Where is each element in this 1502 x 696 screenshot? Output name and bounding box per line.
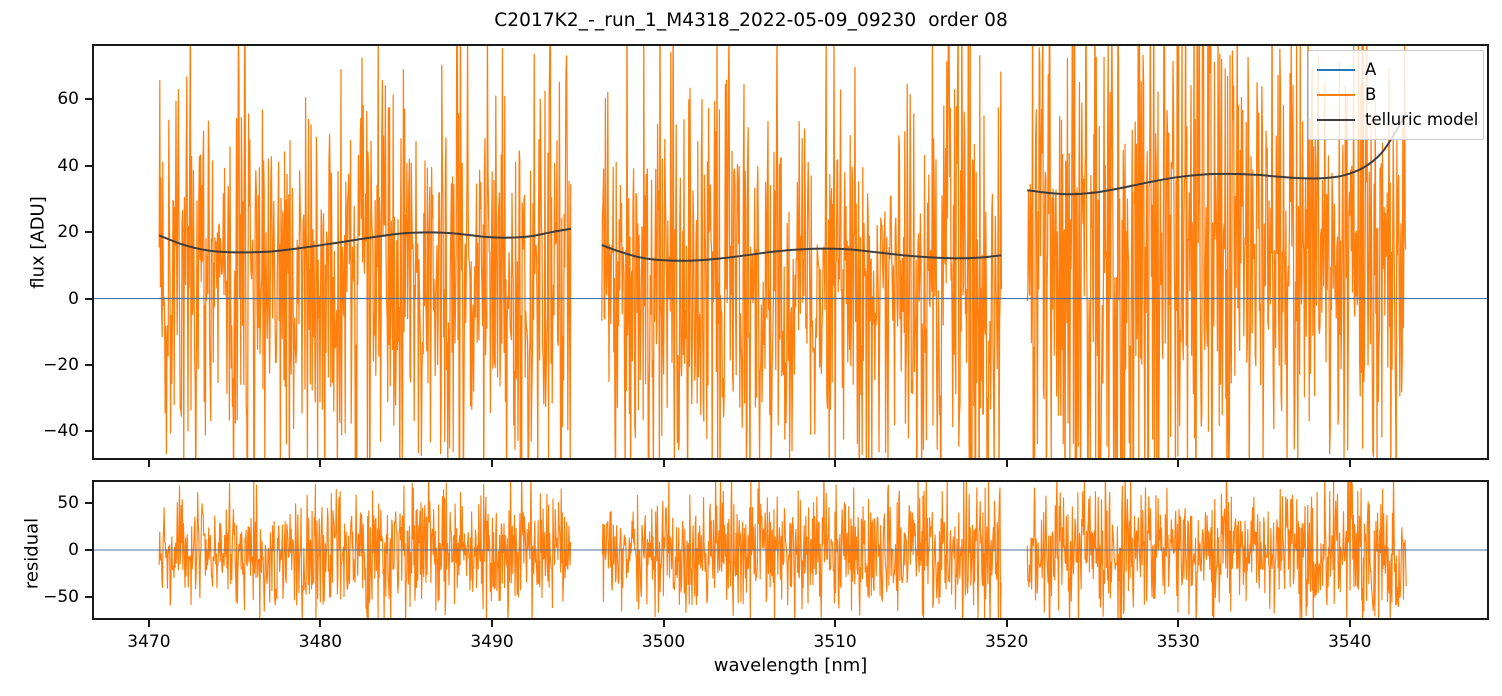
wavelength-xtick-label: 3480 <box>299 632 342 652</box>
residual-ytick-mark <box>85 596 92 598</box>
residual-xtick-mark <box>1006 620 1008 627</box>
flux-axis-label: flux [ADU] <box>28 163 49 323</box>
flux-xtick-mark <box>148 460 150 467</box>
flux-panel-axes <box>92 44 1489 460</box>
legend-entry-telluric[interactable]: telluric model <box>1317 107 1475 132</box>
legend-label-b: B <box>1365 85 1376 104</box>
residual-ytick-label: 0 <box>7 540 79 560</box>
flux-xtick-mark <box>834 460 836 467</box>
residual-series-svg <box>94 482 1487 618</box>
residual-ytick-label: −50 <box>7 587 79 607</box>
flux-ytick-label: −40 <box>7 421 79 441</box>
flux-xtick-mark <box>319 460 321 467</box>
legend-swatch-telluric <box>1317 119 1355 121</box>
residual-xtick-mark <box>663 620 665 627</box>
residual-xtick-mark <box>148 620 150 627</box>
wavelength-xtick-label: 3500 <box>642 632 685 652</box>
legend-swatch-b <box>1317 94 1355 96</box>
flux-ytick-mark <box>85 231 92 233</box>
flux-ytick-mark <box>85 430 92 432</box>
wavelength-xtick-label: 3540 <box>1328 632 1371 652</box>
flux-xtick-mark <box>1006 460 1008 467</box>
legend-entry-b[interactable]: B <box>1317 82 1475 107</box>
residual-xtick-mark <box>491 620 493 627</box>
legend-label-a: A <box>1365 60 1376 79</box>
residual-ytick-label: 50 <box>7 493 79 513</box>
residual-xtick-mark <box>834 620 836 627</box>
legend-entry-a[interactable]: A <box>1317 57 1475 82</box>
page-title: C2017K2_-_run_1_M4318_2022-05-09_09230 o… <box>0 10 1502 31</box>
flux-xtick-mark <box>663 460 665 467</box>
wavelength-xtick-label: 3520 <box>985 632 1028 652</box>
legend-label-telluric: telluric model <box>1365 110 1478 129</box>
residual-xtick-mark <box>319 620 321 627</box>
flux-plot-area <box>94 46 1487 458</box>
wavelength-xtick-label: 3510 <box>813 632 856 652</box>
wavelength-xtick-label: 3490 <box>470 632 513 652</box>
residual-xtick-mark <box>1177 620 1179 627</box>
legend-swatch-a <box>1317 69 1355 71</box>
residual-ytick-mark <box>85 502 92 504</box>
flux-xtick-mark <box>1349 460 1351 467</box>
flux-ytick-label: 60 <box>7 89 79 109</box>
wavelength-axis-label: wavelength [nm] <box>92 655 1489 676</box>
flux-ytick-mark <box>85 165 92 167</box>
flux-ytick-mark <box>85 298 92 300</box>
residual-axis-label: residual <box>22 494 43 614</box>
flux-series-svg <box>94 46 1487 458</box>
wavelength-xtick-label: 3470 <box>127 632 170 652</box>
legend-box: A B telluric model <box>1308 50 1484 140</box>
flux-ytick-mark <box>85 364 92 366</box>
figure-canvas: C2017K2_-_run_1_M4318_2022-05-09_09230 o… <box>0 0 1502 696</box>
wavelength-xtick-label: 3530 <box>1157 632 1200 652</box>
flux-xtick-mark <box>491 460 493 467</box>
flux-xtick-mark <box>1177 460 1179 467</box>
residual-xtick-mark <box>1349 620 1351 627</box>
flux-ytick-label: −20 <box>7 355 79 375</box>
residual-panel-axes <box>92 480 1489 620</box>
residual-ytick-mark <box>85 549 92 551</box>
flux-ytick-mark <box>85 98 92 100</box>
residual-plot-area <box>94 482 1487 618</box>
